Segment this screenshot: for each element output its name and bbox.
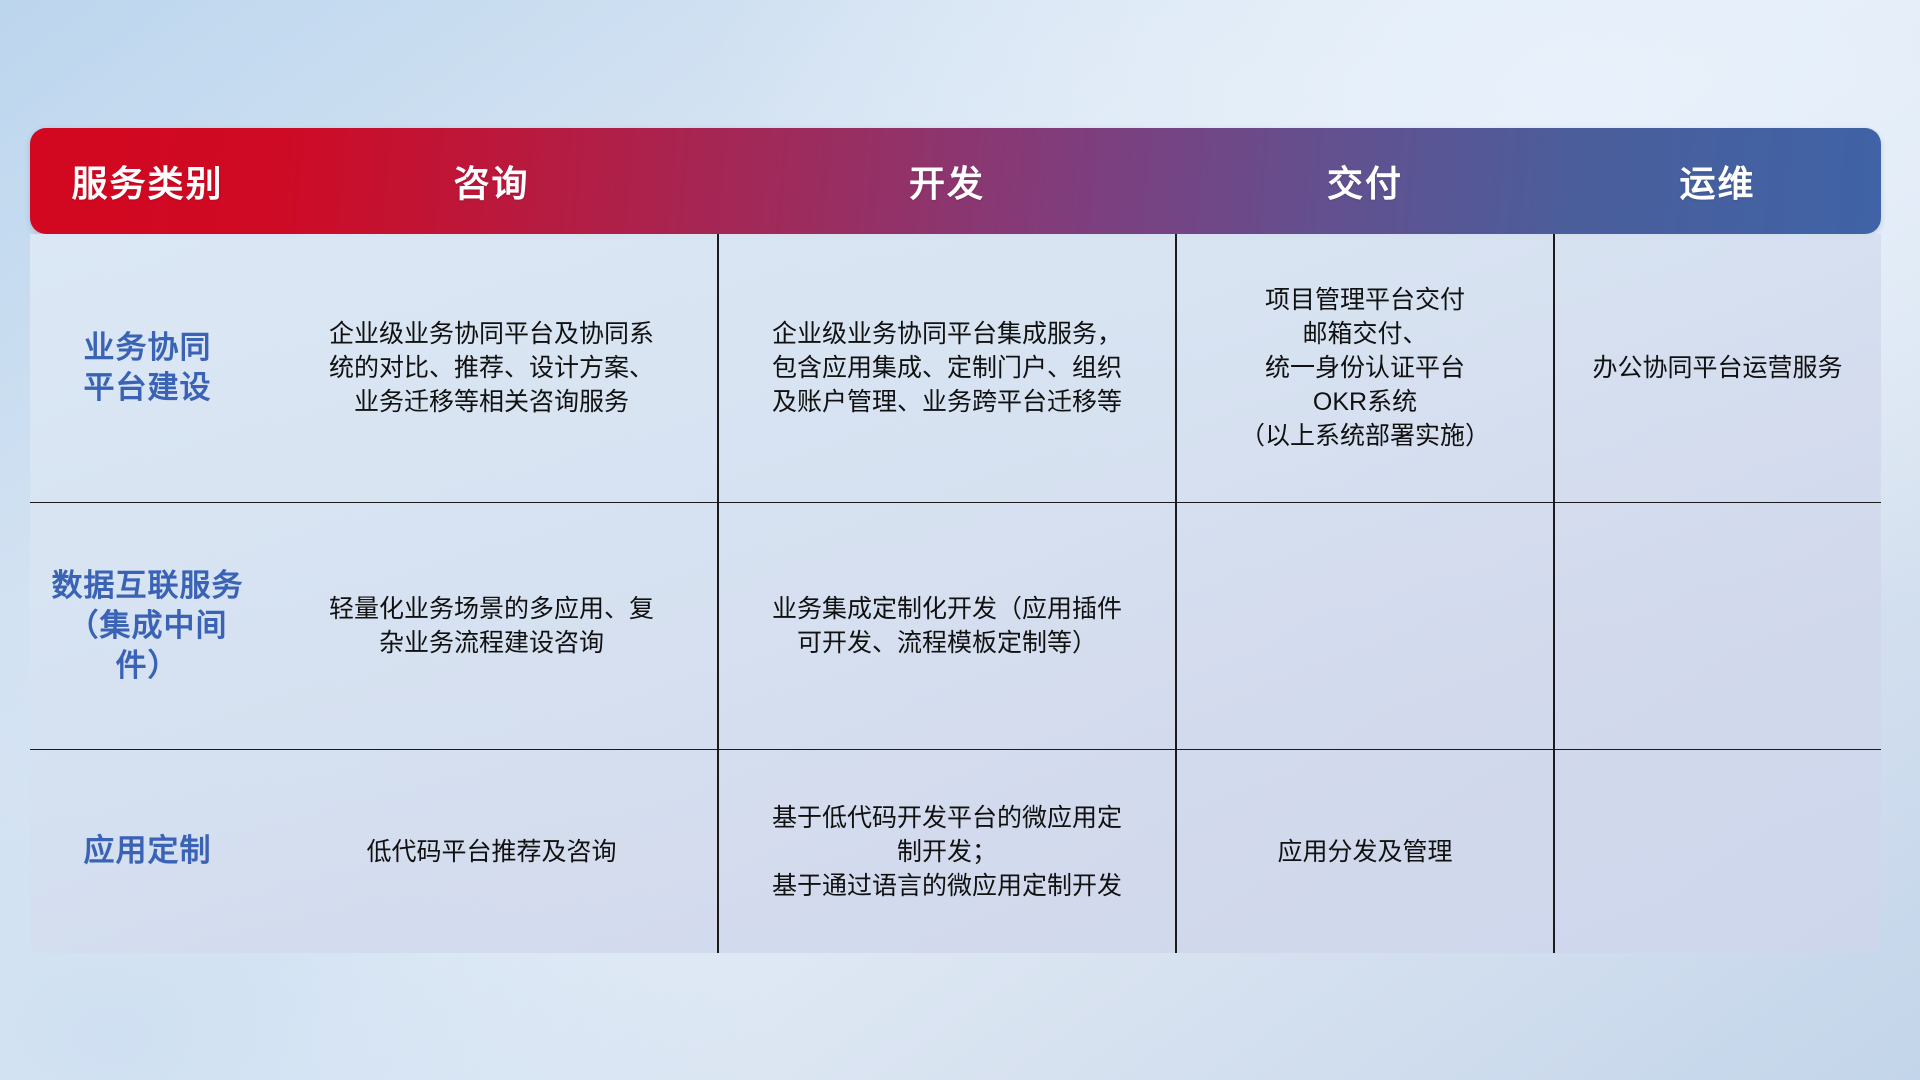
column-divider	[1175, 750, 1177, 953]
column-divider	[1553, 750, 1555, 953]
row-category-label: 业务协同 平台建设	[30, 234, 265, 502]
table-row: 业务协同 平台建设 企业级业务协同平台及协同系 统的对比、推荐、设计方案、 业务…	[30, 234, 1881, 502]
column-divider	[1175, 503, 1177, 749]
cell-delivery	[1176, 503, 1554, 749]
cell-operations	[1554, 503, 1881, 749]
cell-development: 业务集成定制化开发（应用插件 可开发、流程模板定制等）	[718, 503, 1176, 749]
column-divider	[717, 503, 719, 749]
table-header-row: 服务类别 咨询 开发 交付 运维	[30, 128, 1881, 234]
cell-operations	[1554, 750, 1881, 953]
table-body: 业务协同 平台建设 企业级业务协同平台及协同系 统的对比、推荐、设计方案、 业务…	[30, 234, 1881, 953]
cell-consulting: 低代码平台推荐及咨询	[265, 750, 718, 953]
row-category-label: 应用定制	[30, 750, 265, 953]
column-header-delivery: 交付	[1176, 128, 1554, 234]
cell-development: 企业级业务协同平台集成服务， 包含应用集成、定制门户、组织 及账户管理、业务跨平…	[718, 234, 1176, 502]
column-divider	[1553, 234, 1555, 502]
cell-consulting: 企业级业务协同平台及协同系 统的对比、推荐、设计方案、 业务迁移等相关咨询服务	[265, 234, 718, 502]
column-divider	[1175, 234, 1177, 502]
cell-delivery: 应用分发及管理	[1176, 750, 1554, 953]
table-row: 应用定制 低代码平台推荐及咨询 基于低代码开发平台的微应用定 制开发； 基于通过…	[30, 749, 1881, 953]
column-header-category: 服务类别	[30, 128, 265, 234]
column-divider	[1553, 503, 1555, 749]
slide-canvas: 服务类别 咨询 开发 交付 运维 业务协同 平台建设 企业级业务协同平台及协同系…	[0, 0, 1920, 1080]
table-row: 数据互联服务 （集成中间件） 轻量化业务场景的多应用、复 杂业务流程建设咨询 业…	[30, 502, 1881, 749]
row-category-label: 数据互联服务 （集成中间件）	[30, 503, 265, 749]
cell-delivery: 项目管理平台交付 邮箱交付、 统一身份认证平台 OKR系统 （以上系统部署实施）	[1176, 234, 1554, 502]
column-header-development: 开发	[718, 128, 1176, 234]
column-header-operations: 运维	[1554, 128, 1881, 234]
cell-development: 基于低代码开发平台的微应用定 制开发； 基于通过语言的微应用定制开发	[718, 750, 1176, 953]
cell-consulting: 轻量化业务场景的多应用、复 杂业务流程建设咨询	[265, 503, 718, 749]
column-header-consulting: 咨询	[265, 128, 718, 234]
cell-operations: 办公协同平台运营服务	[1554, 234, 1881, 502]
column-divider	[717, 234, 719, 502]
service-matrix-table: 服务类别 咨询 开发 交付 运维 业务协同 平台建设 企业级业务协同平台及协同系…	[30, 128, 1881, 951]
column-divider	[717, 750, 719, 953]
